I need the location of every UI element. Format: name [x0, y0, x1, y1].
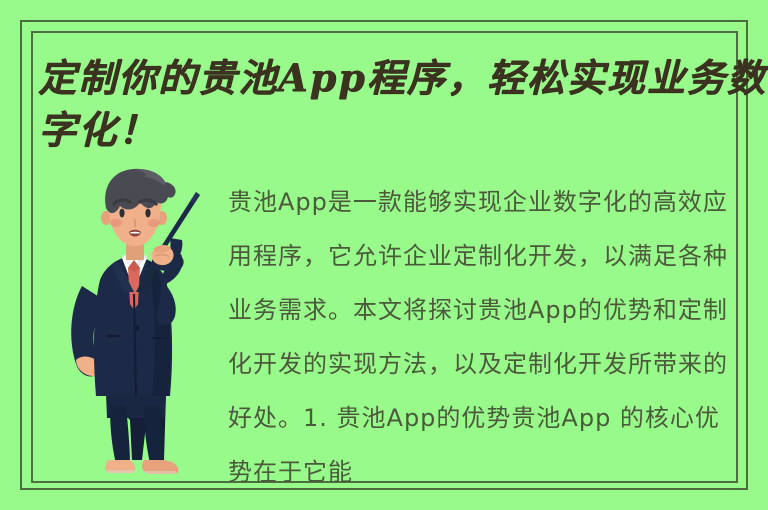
page-title: 定制你的贵池App程序，轻松实现业务数字化！: [38, 52, 768, 156]
right-eye: [145, 209, 150, 218]
poster-canvas: 定制你的贵池App程序，轻松实现业务数字化！ 贵池App是一款能够实现企业数字化…: [0, 0, 768, 510]
right-hand: [152, 245, 174, 265]
businessman-illustration: [48, 168, 228, 484]
feet: [105, 460, 178, 474]
left-eye: [119, 209, 124, 218]
article-body-text: 贵池App是一款能够实现企业数字化的高效应用程序，它允许企业定制化开发，以满足各…: [228, 175, 740, 499]
